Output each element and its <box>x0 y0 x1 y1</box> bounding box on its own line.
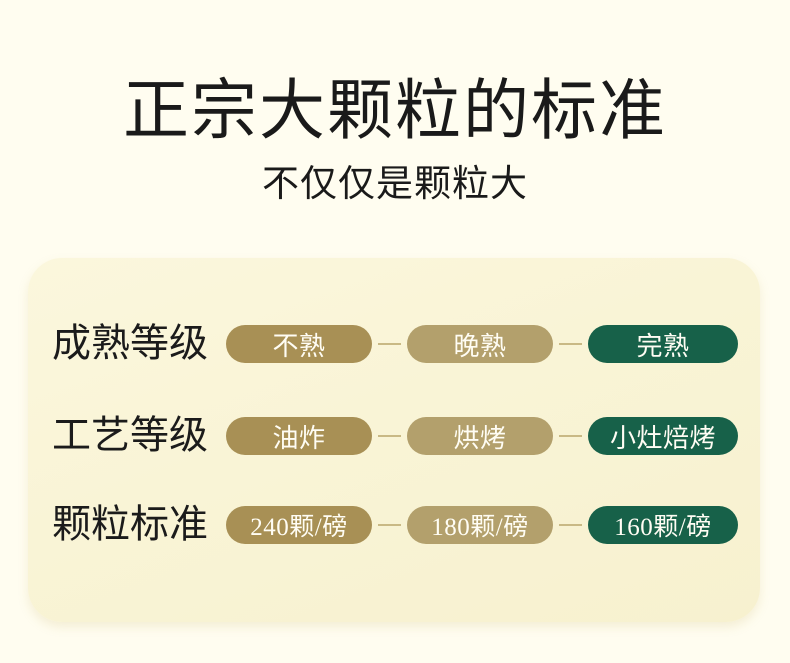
step-pill-process-1[interactable]: 油炸 <box>226 417 372 455</box>
standards-rows: 成熟等级 不熟 晚熟 完熟 工艺等级 油炸 烘烤 小灶焙烤 颗粒标准 240颗 <box>28 258 760 622</box>
standard-row-ripeness: 成熟等级 不熟 晚熟 完熟 <box>28 321 760 367</box>
page-header: 正宗大颗粒的标准 不仅仅是颗粒大 <box>0 0 790 203</box>
progression-track-ripeness: 不熟 晚熟 完熟 <box>226 325 738 363</box>
progression-track-process: 油炸 烘烤 小灶焙烤 <box>226 417 738 455</box>
page-title: 正宗大颗粒的标准 <box>0 0 790 145</box>
step-pill-ripeness-3[interactable]: 完熟 <box>588 325 738 363</box>
row-label-ripeness: 成熟等级 <box>52 325 208 364</box>
connector-line <box>559 524 582 526</box>
connector-line <box>559 343 582 345</box>
step-pill-kernel-count-2[interactable]: 180颗/磅 <box>407 506 553 544</box>
step-pill-ripeness-2[interactable]: 晚熟 <box>407 325 553 363</box>
standard-row-process: 工艺等级 油炸 烘烤 小灶焙烤 <box>28 413 760 459</box>
row-label-kernel-count: 颗粒标准 <box>52 506 208 545</box>
step-pill-process-3[interactable]: 小灶焙烤 <box>588 417 738 455</box>
step-pill-ripeness-1[interactable]: 不熟 <box>226 325 372 363</box>
step-pill-kernel-count-3[interactable]: 160颗/磅 <box>588 506 738 544</box>
connector-line <box>559 435 582 437</box>
step-pill-process-2[interactable]: 烘烤 <box>407 417 553 455</box>
connector-line <box>378 524 401 526</box>
page-subtitle: 不仅仅是颗粒大 <box>0 145 790 203</box>
step-pill-kernel-count-1[interactable]: 240颗/磅 <box>226 506 372 544</box>
connector-line <box>378 343 401 345</box>
progression-track-kernel-count: 240颗/磅 180颗/磅 160颗/磅 <box>226 506 738 544</box>
connector-line <box>378 435 401 437</box>
standards-card: 成熟等级 不熟 晚熟 完熟 工艺等级 油炸 烘烤 小灶焙烤 颗粒标准 240颗 <box>28 258 760 622</box>
row-label-process: 工艺等级 <box>52 417 208 456</box>
standard-row-kernel-count: 颗粒标准 240颗/磅 180颗/磅 160颗/磅 <box>28 502 760 548</box>
